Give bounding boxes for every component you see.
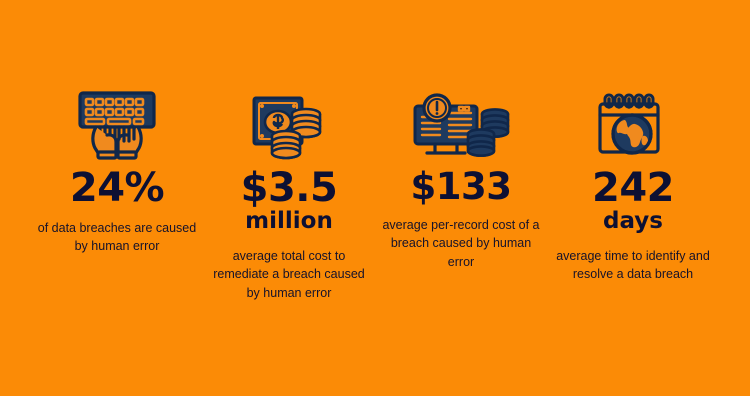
hands-on-keyboard-icon (74, 88, 160, 160)
stat-panel-per-record-cost: $133 average per-record cost of a breach… (375, 88, 547, 271)
calendar-globe-icon (595, 88, 671, 160)
stat-value: $3.5 (241, 168, 338, 209)
stat-value: 242 (592, 168, 674, 209)
monitor-alert-and-coins-icon (411, 88, 511, 160)
stat-panel-human-error-percentage: 24% of data breaches are caused by human… (31, 88, 203, 256)
stat-caption: of data breaches are caused by human err… (35, 219, 199, 256)
stat-panel-time-to-resolve: 242 days average time to identify and re… (547, 88, 719, 284)
cash-and-coins-icon (250, 88, 328, 160)
stat-unit: days (603, 209, 663, 235)
stat-unit: million (245, 209, 333, 235)
infographic-canvas: 24% of data breaches are caused by human… (0, 0, 750, 396)
stats-row: 24% of data breaches are caused by human… (0, 88, 750, 302)
bottom-white-strip (0, 396, 750, 400)
stat-value: $133 (411, 168, 512, 206)
stat-panel-total-breach-cost: $3.5 million average total cost to remed… (203, 88, 375, 302)
stat-value: 24% (70, 168, 164, 209)
stat-caption: average per-record cost of a breach caus… (379, 216, 543, 272)
stat-caption: average total cost to remediate a breach… (207, 247, 371, 303)
stat-caption: average time to identify and resolve a d… (551, 247, 715, 284)
